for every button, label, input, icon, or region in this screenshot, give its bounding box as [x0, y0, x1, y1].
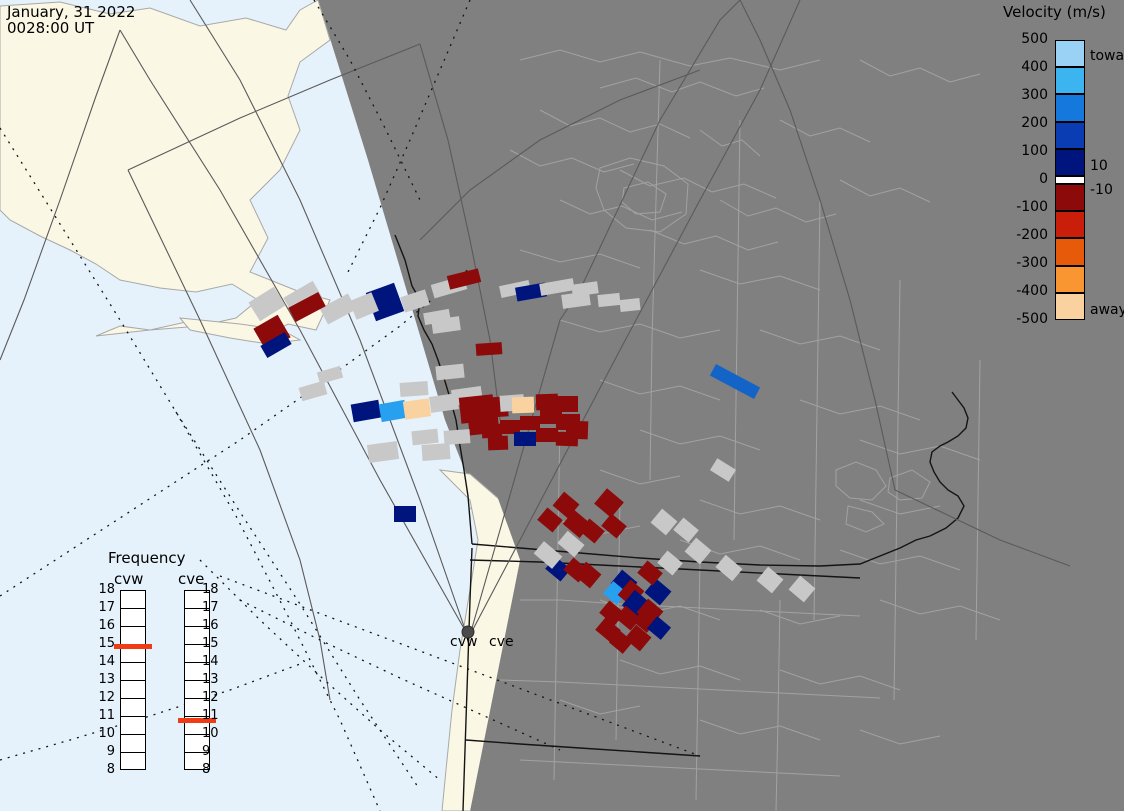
frequency-column-label-cve: cve — [178, 570, 204, 588]
colorbar-swatch — [1055, 184, 1085, 211]
frequency-scale-label: 18 — [202, 582, 224, 597]
colorbar-positive-threshold-label: 10 — [1090, 158, 1108, 174]
colorbar-away-label: away — [1090, 302, 1124, 318]
frequency-scale-label: 11 — [202, 708, 224, 723]
velocity-cell — [556, 432, 578, 447]
frequency-scale-label: 13 — [202, 672, 224, 687]
colorbar-tick-label: 300 — [1000, 87, 1048, 103]
colorbar-tick-label: -100 — [1000, 199, 1048, 215]
frequency-scale-label: 10 — [202, 726, 224, 741]
frequency-scale-label: 17 — [202, 600, 224, 615]
colorbar-swatch — [1055, 266, 1085, 293]
velocity-cell — [400, 381, 429, 397]
velocity-cell — [500, 420, 520, 434]
frequency-tick-line — [120, 608, 146, 609]
frequency-marker-cvw — [114, 644, 152, 649]
colorbar-swatch — [1055, 293, 1085, 320]
frequency-scale-label: 13 — [93, 672, 115, 687]
colorbar-swatch — [1055, 238, 1085, 265]
frequency-scale-label: 14 — [202, 654, 224, 669]
frequency-tick-line — [120, 680, 146, 681]
colorbar-swatch — [1055, 40, 1085, 67]
velocity-cell — [512, 397, 535, 414]
frequency-scale-label: 15 — [93, 636, 115, 651]
velocity-cell — [514, 432, 536, 446]
frequency-tick-line — [120, 734, 146, 735]
colorbar-tick-label: -300 — [1000, 255, 1048, 271]
colorbar-tick-label: 0 — [1000, 171, 1048, 187]
time-label: 0028:00 UT — [7, 19, 94, 37]
map-canvas — [0, 0, 1124, 811]
velocity-cell — [619, 298, 640, 312]
frequency-panel-title: Frequency — [108, 549, 186, 567]
frequency-scale-label: 18 — [93, 582, 115, 597]
colorbar-tick-label: 400 — [1000, 59, 1048, 75]
colorbar-tick-label: -400 — [1000, 283, 1048, 299]
velocity-cell — [520, 416, 540, 430]
radar-map-screen: January, 31 20220028:00 UT Velocity (m/s… — [0, 0, 1124, 811]
frequency-tick-line — [120, 752, 146, 753]
colorbar-tick-label: 200 — [1000, 115, 1048, 131]
timestamp-block: January, 31 20220028:00 UT — [7, 4, 135, 36]
frequency-scale-label: 12 — [93, 690, 115, 705]
velocity-cell — [411, 429, 438, 446]
velocity-cell — [421, 443, 450, 461]
frequency-scale-label: 12 — [202, 690, 224, 705]
frequency-tick-line — [120, 716, 146, 717]
velocity-cell — [444, 429, 471, 445]
frequency-scale-label: 16 — [93, 618, 115, 633]
frequency-scale-label: 15 — [202, 636, 224, 651]
frequency-scale-label: 14 — [93, 654, 115, 669]
colorbar-swatch — [1055, 176, 1085, 184]
frequency-scale-label: 10 — [93, 726, 115, 741]
frequency-scale-label: 11 — [93, 708, 115, 723]
colorbar-tick-label: -200 — [1000, 227, 1048, 243]
colorbar-swatch — [1055, 67, 1085, 94]
frequency-tick-line — [120, 698, 146, 699]
frequency-scale-label: 8 — [93, 762, 115, 777]
frequency-scale-label: 17 — [93, 600, 115, 615]
frequency-tick-line — [120, 626, 146, 627]
colorbar-swatch — [1055, 149, 1085, 176]
frequency-scale-label: 8 — [202, 762, 224, 777]
colorbar-title: Velocity (m/s) — [1003, 3, 1106, 21]
colorbar-toward-label: toward — [1090, 48, 1124, 64]
colorbar-swatch — [1055, 94, 1085, 121]
colorbar-negative-threshold-label: -10 — [1090, 182, 1113, 198]
colorbar-swatch — [1055, 122, 1085, 149]
velocity-cell — [536, 428, 558, 442]
frequency-column-label-cvw: cvw — [114, 570, 143, 588]
colorbar-tick-label: 100 — [1000, 143, 1048, 159]
frequency-tick-line — [120, 662, 146, 663]
velocity-cell — [435, 364, 464, 381]
colorbar-tick-label: -500 — [1000, 311, 1048, 327]
velocity-cell — [476, 342, 503, 356]
frequency-scale-label: 9 — [202, 744, 224, 759]
colorbar-swatch — [1055, 211, 1085, 238]
frequency-scale-label: 9 — [93, 744, 115, 759]
velocity-cell — [488, 436, 508, 451]
site-label-cvw: cvw — [450, 634, 477, 650]
velocity-cell — [403, 398, 431, 419]
colorbar-tick-label: 500 — [1000, 31, 1048, 47]
site-label-cve: cve — [489, 634, 514, 650]
velocity-cell — [597, 293, 620, 307]
frequency-scale-label: 16 — [202, 618, 224, 633]
velocity-cell — [394, 506, 416, 522]
velocity-cell — [536, 394, 559, 411]
